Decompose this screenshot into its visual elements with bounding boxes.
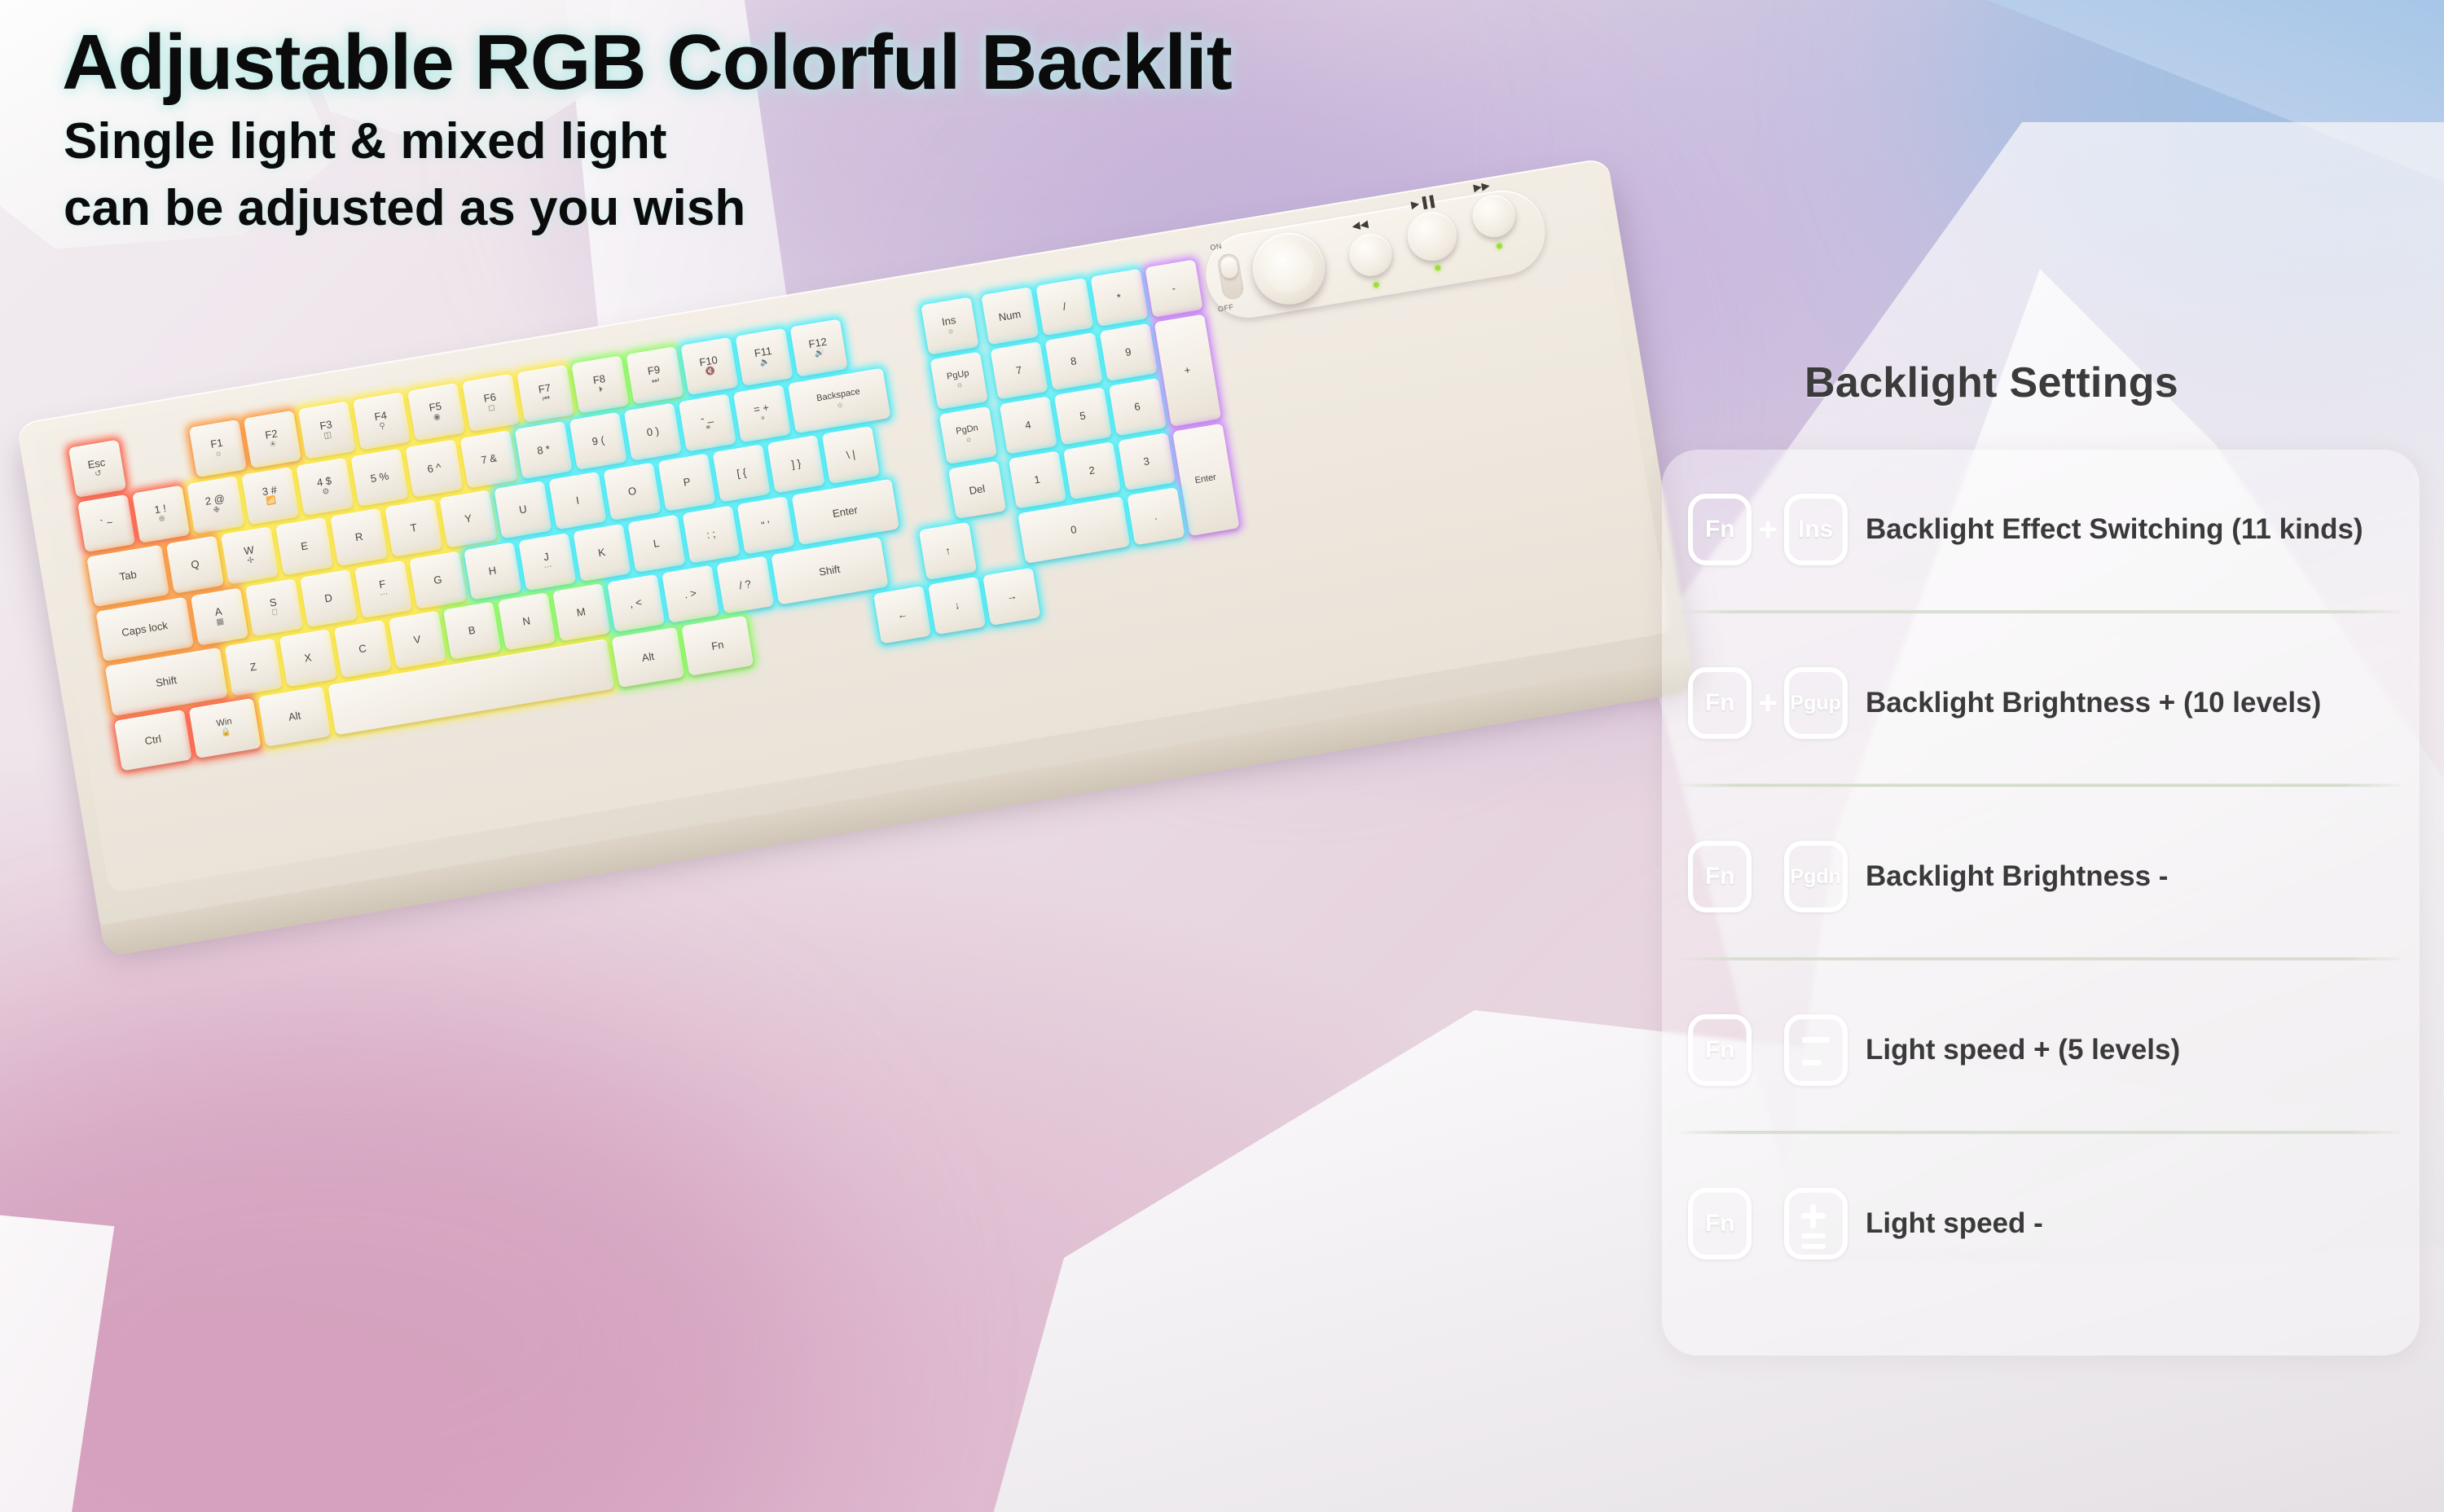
key-badge-pgdn: Pgdn xyxy=(1784,841,1848,912)
key-np-5: 5 xyxy=(1053,387,1111,445)
key-num-8: 8 * xyxy=(515,421,573,479)
key-arrow-left: ← xyxy=(873,586,931,644)
key-f3: F3◫ xyxy=(297,402,355,459)
key-np-3: 3 xyxy=(1118,433,1176,490)
key-num-11: - _⚭ xyxy=(679,393,736,451)
key-v: V xyxy=(388,611,446,669)
key-np-divide: / xyxy=(1035,278,1093,336)
key-esc: Esc↺ xyxy=(68,440,126,498)
shortcut-row: Fn+InsBacklight Effect Switching (11 kin… xyxy=(1662,481,2420,578)
key-badge-fn: Fn xyxy=(1688,1188,1752,1259)
key-arrow-right: → xyxy=(982,568,1040,626)
key-x: X xyxy=(279,629,336,687)
key-xxx: \ | xyxy=(822,426,880,484)
key-j: J⋯ xyxy=(518,533,576,591)
key-f7: F7⏮ xyxy=(516,365,574,423)
page-title: Adjustable RGB Colorful Backlit xyxy=(62,18,1232,108)
key-np-1: 1 xyxy=(1008,451,1066,508)
key-num-6: 6 ^ xyxy=(405,439,463,497)
key-badge-fn: Fn xyxy=(1688,841,1752,912)
key-xxx: / ? xyxy=(716,556,774,613)
key-alt-right: Alt xyxy=(612,627,685,688)
key-y: Y xyxy=(439,490,497,547)
key-num-4: 4 $⚙ xyxy=(296,458,354,516)
key-fn: Fn xyxy=(681,615,754,675)
key-np-8: 8 xyxy=(1044,332,1102,390)
key-t: T xyxy=(385,499,442,557)
key-pgup: PgUp☼ xyxy=(930,352,987,410)
key-num-3: 3 #📶 xyxy=(241,467,299,525)
poster-stage: Adjustable RGB Colorful Backlit Single l… xyxy=(0,0,2444,1512)
shortcut-label: Backlight Brightness - xyxy=(1866,857,2420,895)
key-f4: F4⚲ xyxy=(353,392,411,450)
key-g: G xyxy=(409,552,467,609)
key-b: B xyxy=(443,601,501,659)
key-f: F⋯ xyxy=(354,560,412,618)
key-o: O xyxy=(603,463,661,521)
key-z: Z xyxy=(224,638,282,696)
plus-separator: + xyxy=(1758,687,1777,719)
key-num-5: 5 % xyxy=(350,449,408,507)
key-badge-pgup: Pgup xyxy=(1784,667,1848,739)
row-divider xyxy=(1680,610,2402,613)
key-arrow-down: ↓ xyxy=(928,577,986,635)
shortcut-row: Fn+Light speed + (5 levels) xyxy=(1662,1001,2420,1099)
key-f11: F11🔈 xyxy=(735,328,793,386)
key-m: M xyxy=(552,583,610,641)
key-n: N xyxy=(498,592,556,650)
key-np-dot: . xyxy=(1127,487,1185,545)
key-np-7: 7 xyxy=(990,341,1048,399)
key-num-2: 2 @❉ xyxy=(187,476,244,534)
next-track-icon: ▶▶ xyxy=(1472,179,1490,195)
key-xxx: : ; xyxy=(682,505,740,563)
row-divider xyxy=(1680,1131,2402,1134)
key-num-10: 0 ) xyxy=(624,402,682,460)
key-alt-left: Alt xyxy=(258,686,332,746)
shortcut-keys: Fn+ xyxy=(1662,1188,1866,1259)
shortcut-keys: Fn+Pgup xyxy=(1662,667,1866,739)
key-np-2: 2 xyxy=(1063,442,1121,499)
key-np-4: 4 xyxy=(999,396,1057,454)
key-r: R xyxy=(330,508,388,566)
key-xxx: , < xyxy=(607,574,665,632)
key-num-0: ` ~ xyxy=(77,494,135,552)
subtitle-line-1: Single light & mixed light xyxy=(64,112,667,170)
key-w: W✢ xyxy=(221,526,279,584)
key-num-1: 1 !❊ xyxy=(132,485,190,543)
shortcut-label: Light speed + (5 levels) xyxy=(1866,1031,2420,1069)
key-np-multiply: * xyxy=(1090,269,1148,327)
shortcut-label: Light speed - xyxy=(1866,1204,2420,1242)
key-np-9: 9 xyxy=(1099,323,1157,381)
key-f10: F10🔇 xyxy=(680,337,738,395)
row-divider xyxy=(1680,957,2402,960)
key-ins: Ins☼ xyxy=(921,297,978,355)
shortcut-keys: Fn+Pgdn xyxy=(1662,841,1866,912)
key-d: D xyxy=(300,569,358,627)
key-xxx: ] } xyxy=(767,435,825,493)
key-k: K xyxy=(573,524,631,582)
subtitle-line-2: can be adjusted as you wish xyxy=(64,179,745,237)
key-np-minus: - xyxy=(1145,260,1202,318)
key-u: U xyxy=(494,481,552,538)
key-num-9: 9 ( xyxy=(569,412,627,470)
key-np-6: 6 xyxy=(1108,378,1166,436)
shortcut-label: Backlight Brightness + (10 levels) xyxy=(1866,683,2420,722)
key-xxx: [ { xyxy=(713,444,771,502)
plus-separator: + xyxy=(1758,513,1777,546)
key-num-12: = +⚬ xyxy=(733,385,791,442)
plus-equals-key-icon xyxy=(1784,1188,1848,1259)
key-del: Del xyxy=(948,461,1006,519)
panel-title: Backlight Settings xyxy=(1804,358,2178,407)
key-numlock: Num xyxy=(981,287,1039,345)
key-arrow-up: ↑ xyxy=(919,522,977,580)
key-f9: F9⏭ xyxy=(626,346,684,404)
key-f1: F1☼ xyxy=(188,420,246,477)
key-pgdn: PgDn☼ xyxy=(939,407,997,464)
key-s: S xyxy=(245,578,303,636)
key-f8: F8⏵ xyxy=(571,355,629,413)
key-f5: F5◉ xyxy=(407,383,465,441)
key-win: Win🔒 xyxy=(188,698,262,758)
key-e: E xyxy=(275,517,333,575)
shortcut-row: Fn+PgupBacklight Brightness + (10 levels… xyxy=(1662,654,2420,752)
key-num-7: 7 & xyxy=(460,430,518,488)
key-xxx: " ' xyxy=(736,496,794,554)
key-i: I xyxy=(548,472,606,530)
key-f2: F2☀ xyxy=(243,411,301,468)
key-q: Q xyxy=(166,535,224,593)
key-f6: F6◻ xyxy=(462,374,520,432)
shortcut-label: Backlight Effect Switching (11 kinds) xyxy=(1866,510,2420,548)
shortcut-row: Fn+Light speed - xyxy=(1662,1175,2420,1272)
key-badge-fn: Fn xyxy=(1688,494,1752,565)
shortcut-row: Fn+PgdnBacklight Brightness - xyxy=(1662,828,2420,925)
previous-track-icon: ◀◀ xyxy=(1351,218,1369,233)
key-p: P xyxy=(658,453,716,511)
shortcut-keys: Fn+ xyxy=(1662,1014,1866,1086)
key-a: A▦ xyxy=(190,587,248,645)
row-divider xyxy=(1680,784,2402,787)
key-l: L xyxy=(627,515,685,573)
key-badge-fn: Fn xyxy=(1688,1014,1752,1086)
key-h: H xyxy=(464,542,521,600)
shortcut-keys: Fn+Ins xyxy=(1662,494,1866,565)
key-badge-fn: Fn xyxy=(1688,667,1752,739)
key-c: C xyxy=(333,620,391,678)
minus-key-icon xyxy=(1784,1014,1848,1086)
key-badge-ins: Ins xyxy=(1784,494,1848,565)
key-xxx: . > xyxy=(662,565,719,623)
key-f12: F12🔊 xyxy=(789,319,847,377)
